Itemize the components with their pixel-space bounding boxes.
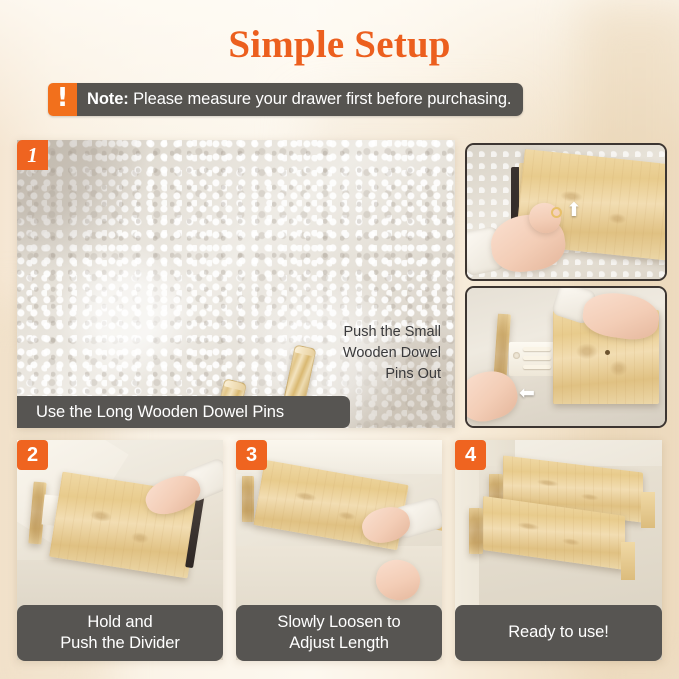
- step-1-inset-photo-1: ⬆: [465, 143, 667, 281]
- step-2-badge: 2: [17, 440, 48, 470]
- note-text: Note: Please measure your drawer first b…: [77, 83, 523, 116]
- step-2-caption: Hold and Push the Divider: [17, 605, 223, 661]
- note-banner: ! Note: Please measure your drawer first…: [48, 83, 523, 116]
- slot: [523, 347, 551, 351]
- annotation-line: Pins Out: [311, 364, 441, 385]
- step-1-photo: 1 Push the Small Wooden Dowel Pins Out *…: [17, 140, 455, 428]
- wood-grain: [242, 476, 254, 522]
- caption-line: Ready to use!: [455, 622, 662, 643]
- divider-side-rail: [641, 492, 655, 528]
- infographic-page: Simple Setup ! Note: Please measure your…: [0, 0, 679, 679]
- wood-grain: [469, 508, 483, 554]
- divider-side-rail: [621, 542, 635, 580]
- caption-line: Push the Divider: [17, 633, 223, 654]
- slot: [523, 356, 551, 360]
- caption-line: Adjust Length: [236, 633, 442, 654]
- caption-line: Hold and: [17, 612, 223, 633]
- note-message: Please measure your drawer first before …: [129, 90, 512, 108]
- divider-side-rail: [242, 476, 254, 522]
- step-1-caption: Use the Long Wooden Dowel Pins: [17, 396, 350, 428]
- exclamation-icon: !: [48, 83, 77, 116]
- note-label: Note:: [87, 90, 129, 108]
- slot: [523, 365, 551, 369]
- step-3-badge: 3: [236, 440, 267, 470]
- caption-line: Slowly Loosen to: [236, 612, 442, 633]
- annotation-line: Push the Small: [311, 322, 441, 343]
- step-1-badge: 1: [17, 140, 48, 170]
- annotation-line: Wooden Dowel: [311, 343, 441, 364]
- step-4-badge: 4: [455, 440, 486, 470]
- step-4-caption: Ready to use!: [455, 605, 662, 661]
- step-1-annotation-top: Push the Small Wooden Dowel Pins Out: [311, 322, 441, 385]
- dowel-hole: [605, 350, 610, 355]
- divider-side-rail: [469, 508, 483, 554]
- up-arrow-icon: ⬆: [566, 201, 582, 220]
- step-1-inset-photo-2: ⬅: [465, 286, 667, 428]
- dowel-hole-highlight-icon: [551, 207, 562, 218]
- step-3-caption: Slowly Loosen to Adjust Length: [236, 605, 442, 661]
- dowel-hole: [513, 352, 520, 359]
- left-arrow-icon: ⬅: [519, 384, 535, 403]
- page-title: Simple Setup: [0, 22, 679, 67]
